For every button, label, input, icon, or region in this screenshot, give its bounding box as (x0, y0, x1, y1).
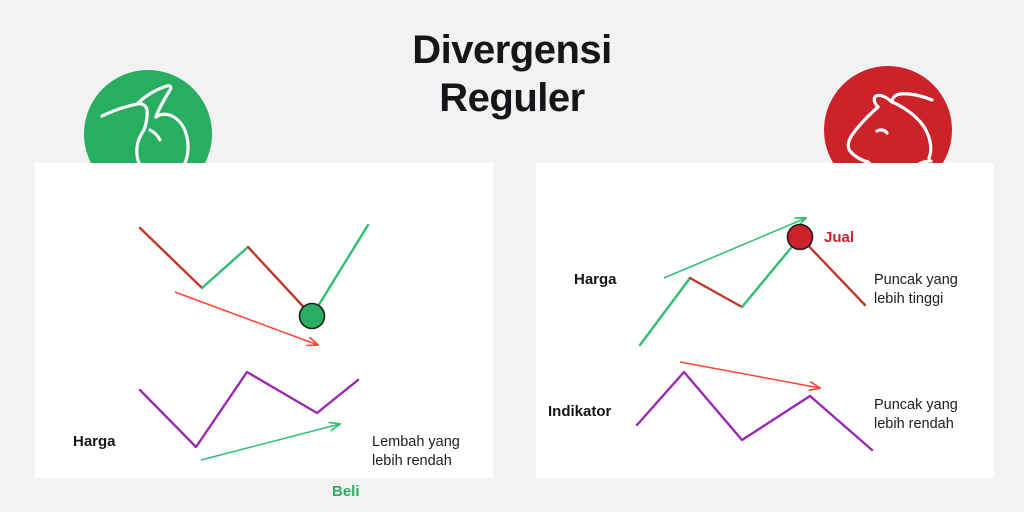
price-trend-arrow-up (664, 218, 806, 278)
panel-bearish-divergence: Harga Indikator Puncak yang lebih tinggi… (536, 163, 994, 478)
indicator-row-label: Indikator (548, 403, 611, 420)
page-title-line-2: Reguler (262, 74, 762, 122)
sell-signal-marker[interactable] (788, 225, 813, 250)
buy-signal-label: Beli (332, 483, 360, 500)
bullish-price-line (140, 225, 368, 316)
page-title: Divergensi Reguler (262, 26, 762, 122)
bearish-indicator-line (637, 372, 872, 450)
price-segment-down-2 (800, 237, 865, 305)
bullish-indicator-line (140, 372, 358, 447)
bullish-chart-svg (35, 163, 493, 478)
sell-signal-label: Jual (824, 229, 854, 246)
buy-signal-marker[interactable] (300, 304, 325, 329)
bearish-price-line (640, 237, 865, 345)
price-segment-up-1 (202, 247, 248, 288)
price-segment-down-2 (248, 247, 312, 316)
indicator-annotation: Puncak yang lebih rendah (874, 396, 958, 434)
infographic-canvas: Divergensi Reguler (0, 0, 1024, 512)
price-segment-up-2 (742, 237, 800, 307)
price-annotation: Puncak yang lebih tinggi (874, 271, 958, 309)
price-segment-down-1 (140, 228, 202, 288)
price-row-label: Harga (73, 433, 116, 450)
price-segment-up-2 (312, 225, 368, 316)
indicator-trend-arrow-up (201, 424, 340, 460)
price-segment-down-1 (690, 278, 742, 307)
panel-bullish-divergence: Harga Indikator Lembah yang lebih rendah… (35, 163, 493, 478)
price-segment-up-1 (640, 278, 690, 345)
price-annotation: Lembah yang lebih rendah (372, 433, 460, 471)
page-title-line-1: Divergensi (412, 28, 612, 72)
price-row-label: Harga (574, 271, 617, 288)
indicator-trend-arrow-down (680, 362, 820, 388)
